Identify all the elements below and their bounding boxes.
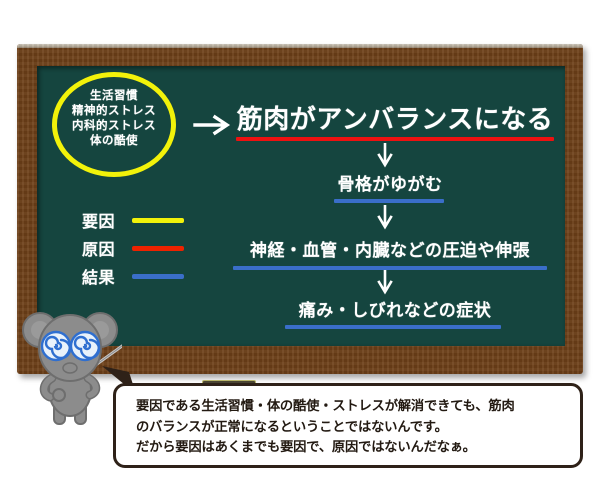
legend-swatch-red bbox=[132, 246, 184, 251]
legend-item-youin: 要因 bbox=[82, 206, 184, 234]
legend-swatch-blue bbox=[132, 274, 184, 279]
mouse-eye-right-spiral bbox=[71, 332, 99, 360]
speech-bubble-text: 要因である生活習慣・体の酷使・ストレスが解消できても、筋肉 のバランスが正常にな… bbox=[136, 397, 572, 459]
down-arrow-icon-3 bbox=[377, 270, 393, 296]
down-arrow-icon-2 bbox=[377, 205, 393, 231]
legend-label-kekka: 結果 bbox=[82, 264, 122, 288]
mouse-snout bbox=[63, 363, 77, 373]
flow-step-4-underline bbox=[285, 325, 501, 329]
factor-line-3: 内科的ストレス bbox=[46, 118, 182, 133]
legend: 要因 原因 結果 bbox=[82, 206, 184, 290]
speech-line-1: 要因である生活習慣・体の酷使・ストレスが解消できても、筋肉 bbox=[136, 397, 572, 418]
legend-item-genin: 原因 bbox=[82, 234, 184, 262]
legend-label-youin: 要因 bbox=[82, 208, 122, 232]
factors-circle-text: 生活習慣 精神的ストレス 内科的ストレス 体の酷使 bbox=[46, 88, 182, 148]
flow-step-2: 骨格がゆがむ bbox=[300, 174, 480, 196]
factor-line-2: 精神的ストレス bbox=[46, 103, 182, 118]
flow-step-3: 神経・血管・内臓などの圧迫や伸張 bbox=[210, 240, 570, 262]
speech-bubble: 要因である生活習慣・体の酷使・ストレスが解消できても、筋肉 のバランスが正常にな… bbox=[113, 383, 583, 468]
speech-line-3: だから要因はあくまでも要因で、原因ではないんだなぁ。 bbox=[136, 438, 572, 459]
factor-line-1: 生活習慣 bbox=[46, 88, 182, 103]
speech-line-2: のバランスが正常になるということではないんです。 bbox=[136, 418, 572, 439]
legend-swatch-yellow bbox=[132, 218, 184, 223]
screenshot-root: 生活習慣 精神的ストレス 内科的ストレス 体の酷使 要因 原因 結果 筋肉がアン… bbox=[0, 0, 600, 500]
mouse-eye-left-spiral bbox=[42, 332, 70, 360]
flow-step-4: 痛み・しびれなどの症状 bbox=[250, 300, 540, 322]
flow-step-1-underline bbox=[236, 137, 554, 141]
legend-label-genin: 原因 bbox=[82, 236, 122, 260]
flow-step-1: 筋肉がアンバランスになる bbox=[230, 104, 560, 136]
legend-item-kekka: 結果 bbox=[82, 262, 184, 290]
mouse-hand bbox=[53, 389, 65, 401]
factor-line-4: 体の酷使 bbox=[46, 133, 182, 148]
flow-step-2-underline bbox=[334, 199, 444, 203]
down-arrow-icon-1 bbox=[377, 143, 393, 169]
